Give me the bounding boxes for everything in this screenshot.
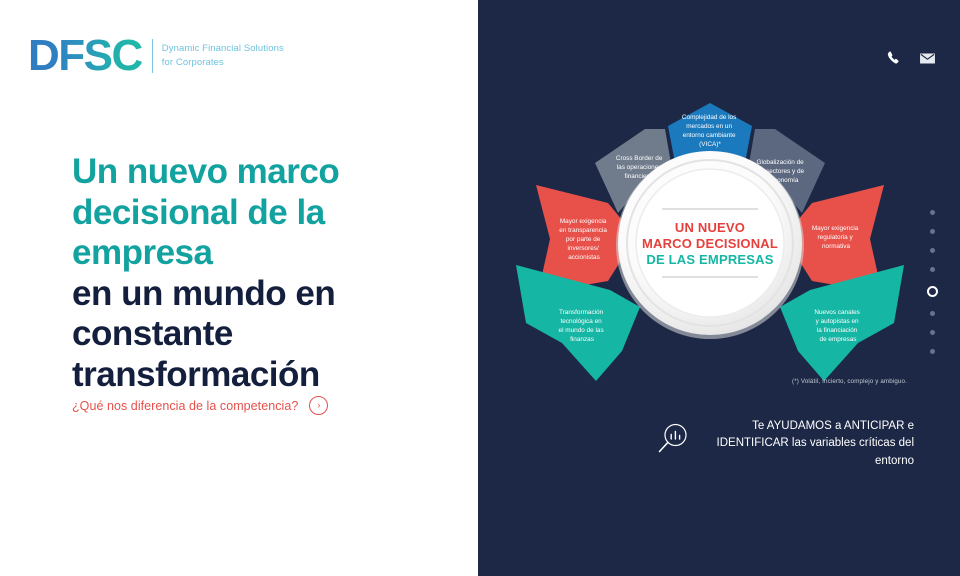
hero-left-panel: DFSC Dynamic Financial Solutions for Cor… [0,0,478,576]
center-title-line2: MARCO DECISIONAL [642,236,778,251]
mail-icon[interactable] [919,50,936,67]
brand-logo[interactable]: DFSC Dynamic Financial Solutions for Cor… [28,34,284,78]
slide-dot-8[interactable] [930,349,935,354]
slide-dot-3[interactable] [930,248,935,253]
headline-teal-line-2: decisional de la [72,193,442,234]
infographic-footnote: (*) Volátil, Incierto, complejo y ambigu… [792,378,907,385]
slide-dot-1[interactable] [930,210,935,215]
logo-divider [152,39,153,73]
cta-label: ¿Qué nos diferencia de la competencia? [72,399,298,413]
slide-dot-navigation[interactable] [927,210,938,354]
search-chart-icon [656,422,690,456]
slide-dot-4[interactable] [930,267,935,272]
bottom-caption-block: Te AYUDAMOS a ANTICIPAR e IDENTIFICAR la… [656,418,914,470]
segment-transformacion-tecnologica: Transformación tecnológica en el mundo d… [516,265,640,381]
infographic-decision-framework: Complejidad de los mercados en un entorn… [500,85,920,385]
logo-wordmark: DFSC [28,34,152,78]
slide-dot-7[interactable] [930,330,935,335]
landing-page: DFSC Dynamic Financial Solutions for Cor… [0,0,960,576]
headline-teal-line-1: Un nuevo marco [72,152,442,193]
bottom-caption-text: Te AYUDAMOS a ANTICIPAR e IDENTIFICAR la… [704,418,914,470]
contact-icon-group [886,50,936,67]
headline-navy-line-1: en un mundo en [72,274,442,315]
center-title-line1: UN NUEVO [675,220,745,235]
slide-dot-6[interactable] [930,311,935,316]
phone-icon[interactable] [886,50,903,67]
center-title-line3: DE LAS EMPRESAS [646,252,773,267]
bottom-caption-line3: entorno [704,453,914,470]
segment-nuevos-canales: Nuevos canales y autopistas en la financ… [780,265,904,381]
bottom-caption-line1: Te AYUDAMOS a ANTICIPAR e [704,418,914,435]
logo-tagline-line2: for Corporates [162,56,284,70]
headline-navy-line-3: transformación [72,355,442,396]
cta-link-competencia[interactable]: ¿Qué nos diferencia de la competencia? › [72,396,328,415]
headline-teal-line-3: empresa [72,233,442,274]
page-title: Un nuevo marco decisional de la empresa … [72,152,442,396]
slide-dot-5-active[interactable] [927,286,938,297]
logo-tagline-line1: Dynamic Financial Solutions [162,42,284,56]
slide-dot-2[interactable] [930,229,935,234]
hero-right-panel: Complejidad de los mercados en un entorn… [478,0,960,576]
bottom-caption-line2: IDENTIFICAR las variables críticas del [704,435,914,452]
infographic-center-plate: UN NUEVO MARCO DECISIONAL DE LAS EMPRESA… [616,151,804,339]
chevron-right-icon: › [309,396,328,415]
logo-tagline: Dynamic Financial Solutions for Corporat… [162,42,284,70]
headline-navy-line-2: constante [72,314,442,355]
